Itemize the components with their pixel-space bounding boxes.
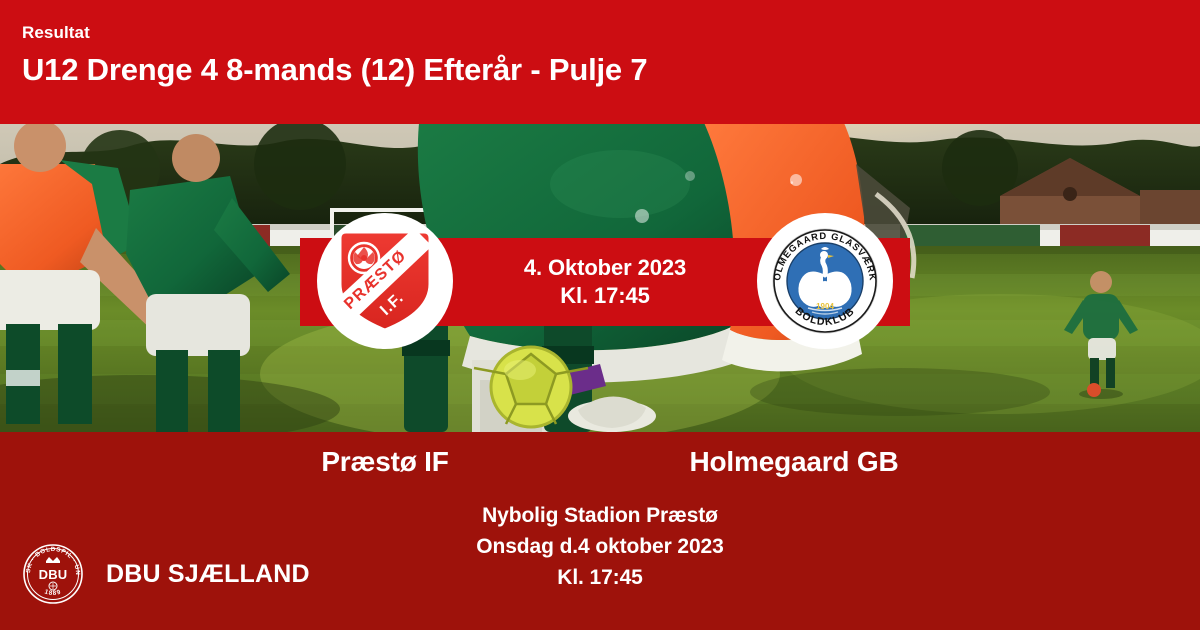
home-team-crest[interactable]: PRÆSTØ I.F. — [317, 213, 453, 349]
svg-text:1904: 1904 — [816, 302, 834, 311]
organization-footer: DANSK · BOLDSPIL · UNION 1889 DBU DBU SJ… — [22, 538, 342, 610]
dbu-crest-icon: DANSK · BOLDSPIL · UNION 1889 DBU — [22, 543, 84, 605]
svg-text:DBU: DBU — [39, 567, 68, 582]
header-kicker: Resultat — [22, 23, 90, 43]
home-team-name: Præstø IF — [215, 444, 555, 480]
page-title: U12 Drenge 4 8-mands (12) Efterår - Pulj… — [22, 50, 647, 90]
away-team-crest[interactable]: HOLMEGAARD GLASVÆRKS BOLDKLUB 1904 — [757, 213, 893, 349]
svg-text:•: • — [790, 178, 794, 189]
away-team-name: Holmegaard GB — [624, 444, 964, 480]
dbu-crest: DANSK · BOLDSPIL · UNION 1889 DBU — [22, 543, 84, 605]
holmegaard-gb-crest-icon: HOLMEGAARD GLASVÆRKS BOLDKLUB 1904 — [766, 222, 884, 340]
praesto-if-crest-icon: PRÆSTØ I.F. — [326, 222, 444, 340]
venue-stadium: Nybolig Stadion Præstø — [0, 500, 1200, 531]
team-names-row: Præstø IF Holmegaard GB — [0, 432, 1200, 494]
organization-name: DBU SJÆLLAND — [106, 559, 310, 589]
match-result-card: Resultat U12 Drenge 4 8-mands (12) Efter… — [0, 0, 1200, 630]
header-banner: Resultat U12 Drenge 4 8-mands (12) Efter… — [0, 0, 1200, 124]
